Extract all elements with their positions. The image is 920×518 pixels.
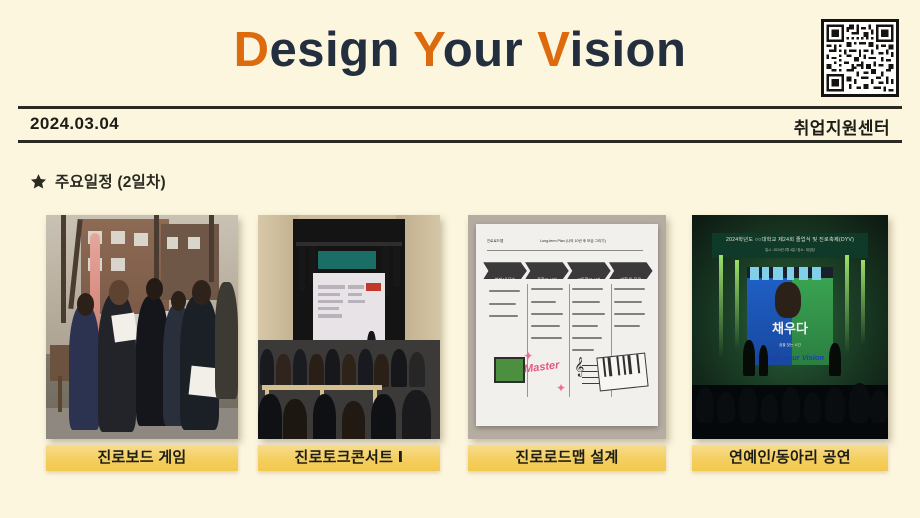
- gallery-card-2[interactable]: 진로토크콘서트 Ⅰ: [258, 215, 440, 439]
- title-part-ision: ision: [570, 23, 687, 77]
- title-part-v: V: [537, 23, 569, 77]
- caption-1: 진로보드 게임: [46, 445, 238, 471]
- stage-banner-subtext: 일시 : 2024년 3월 4일 / 장소 : 대강당: [712, 247, 869, 252]
- gallery-card-3[interactable]: 진로로드맵 Long-term Plan (나의 10년 후 모습 그리기) 현…: [468, 215, 666, 439]
- caption-3: 진로로드맵 설계: [468, 445, 666, 471]
- slide-root: Design Your Vision: [0, 0, 920, 518]
- photo-career-roadmap-design: 진로로드맵 Long-term Plan (나의 10년 후 모습 그리기) 현…: [468, 215, 666, 439]
- gallery-card-4[interactable]: 2024학년도 ○○대학교 제24회 졸업식 및 진로축제(DYV) 일시 : …: [692, 215, 888, 439]
- worksheet-step-1: 현재 내 모습: [483, 262, 527, 281]
- date-band: 2024.03.04 취업지원센터: [0, 106, 920, 146]
- gallery-card-1[interactable]: 진로보드 게임: [46, 215, 238, 439]
- section-heading: 주요일정 (2일차): [30, 170, 166, 192]
- title-part-y: Y: [413, 23, 443, 77]
- band-rule-top: [18, 106, 902, 109]
- title-part-d: D: [234, 23, 270, 77]
- title-part-esign: esign: [269, 23, 413, 77]
- worksheet-step-3: 고등학교 시기: [567, 262, 611, 281]
- title-part-our: our: [443, 23, 538, 77]
- qr-code[interactable]: [821, 19, 899, 97]
- worksheet-handwritten-note: Master: [524, 359, 567, 392]
- band-rule-bottom: [18, 140, 902, 143]
- caption-2: 진로토크콘서트 Ⅰ: [258, 445, 440, 471]
- led-headline: 채우다: [747, 318, 833, 337]
- stage-banner-text: 2024학년도 ○○대학교 제24회 졸업식 및 진로축제(DYV): [712, 236, 869, 243]
- photo-career-board-game: [46, 215, 238, 439]
- page-title: Design Your Vision: [0, 20, 920, 80]
- photo-gallery: 진로보드 게임: [0, 215, 920, 477]
- section-label: 주요일정 (2일차): [55, 170, 166, 192]
- worksheet-step-4: 대학 및 진로: [609, 262, 653, 281]
- caption-4: 연예인/동아리 공연: [692, 445, 888, 471]
- worksheet-step-2: 중학교 시기: [525, 262, 569, 281]
- title-row: Design Your Vision: [0, 0, 920, 108]
- event-date: 2024.03.04: [30, 114, 119, 134]
- worksheet-header-right: Long-term Plan (나의 10년 후 모습 그리기): [540, 239, 606, 244]
- organization-name: 취업지원센터: [794, 114, 890, 139]
- star-icon: [30, 173, 47, 190]
- worksheet-header-left: 진로로드맵: [487, 239, 504, 244]
- photo-celebrity-club-performance: 2024학년도 ○○대학교 제24회 졸업식 및 진로축제(DYV) 일시 : …: [692, 215, 888, 439]
- photo-career-talk-concert: [258, 215, 440, 439]
